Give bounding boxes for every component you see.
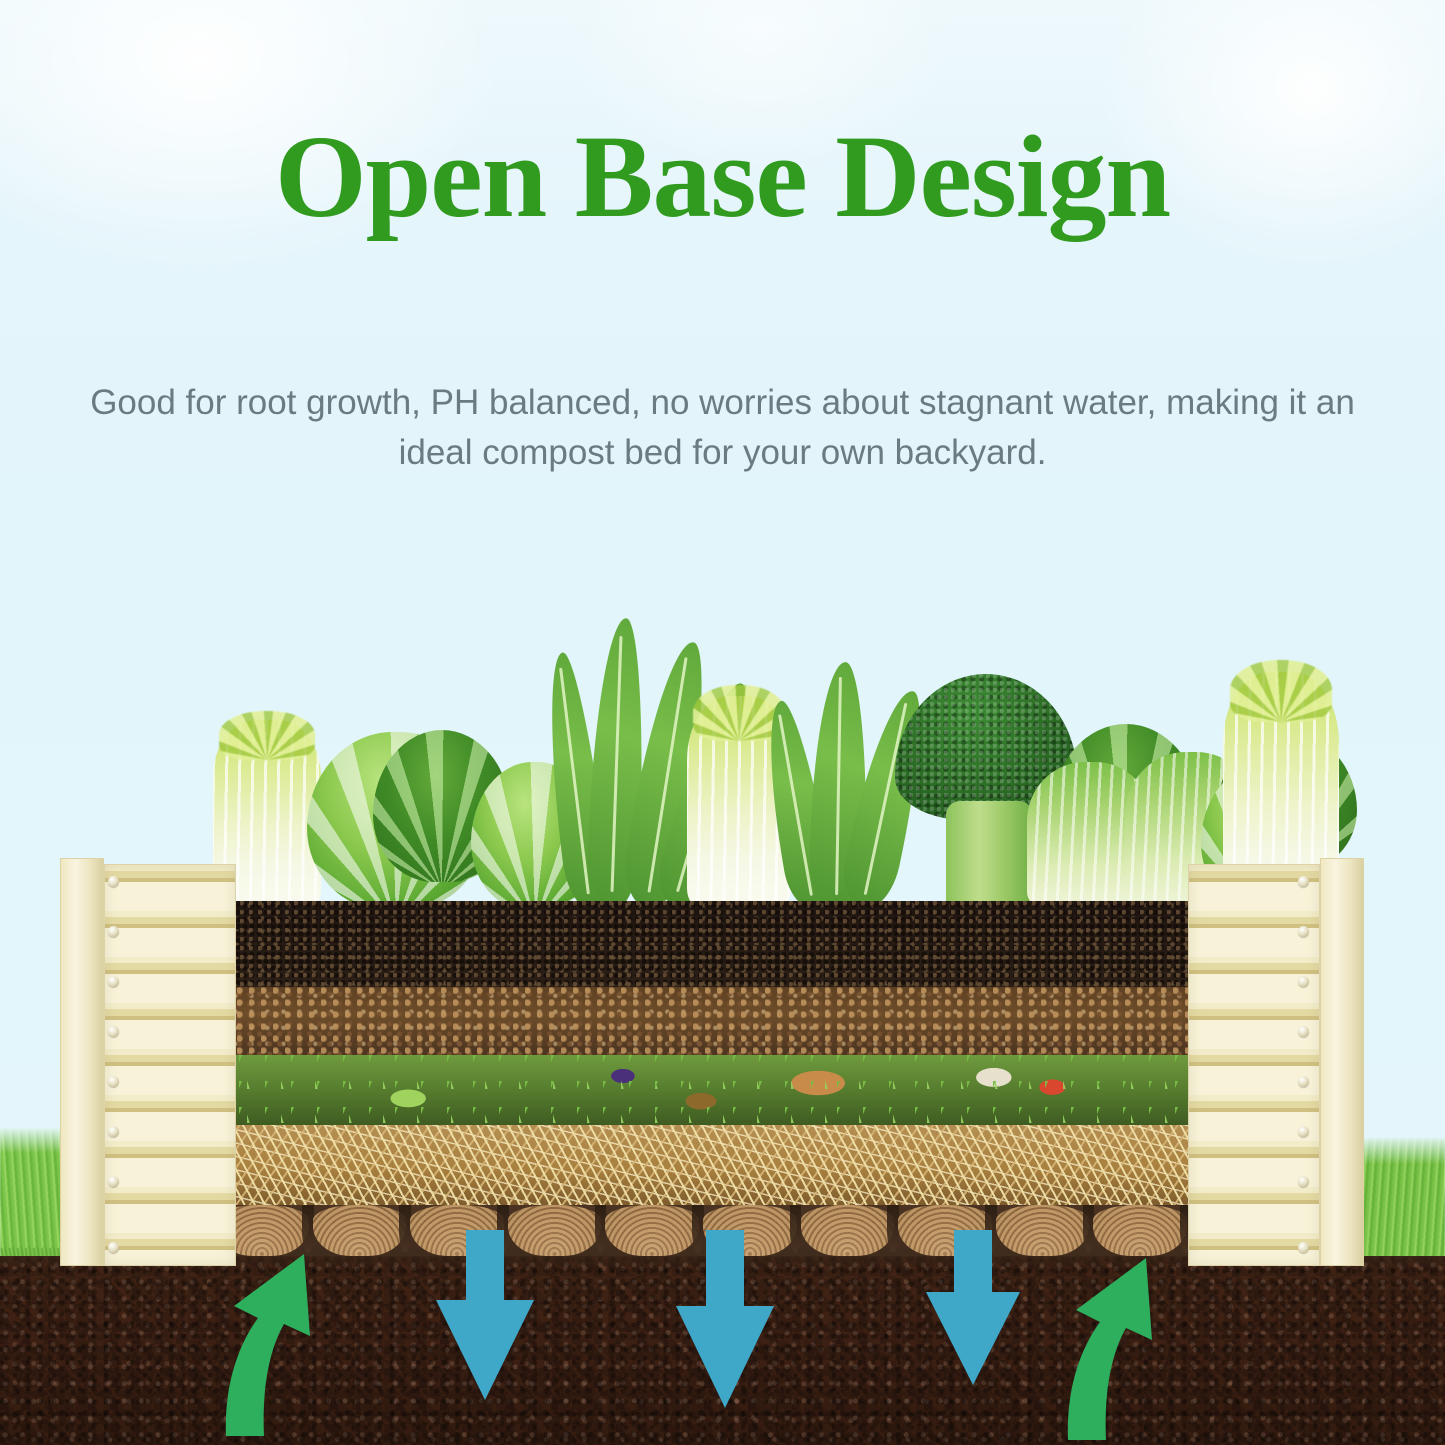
screw-icon [1298, 926, 1309, 937]
arrow-down-blue-2 [670, 1230, 780, 1412]
arrow-down-blue-3 [920, 1230, 1026, 1390]
layer-compost [213, 987, 1189, 1055]
left-side-panel [60, 864, 236, 1266]
panel-screws-right [1298, 864, 1316, 1266]
layer-kitchen-scraps [213, 1055, 1189, 1125]
flow-arrows [0, 1230, 1445, 1445]
screw-icon [108, 1126, 119, 1137]
screw-icon [1298, 1026, 1309, 1037]
layer-topsoil [213, 901, 1189, 987]
screw-icon [1298, 1076, 1309, 1087]
page-subtitle: Good for root growth, PH balanced, no wo… [50, 378, 1395, 477]
panel-screws-left [108, 864, 126, 1266]
screw-icon [1298, 976, 1309, 987]
screw-icon [1298, 876, 1309, 887]
screw-icon [108, 926, 119, 937]
screw-icon [108, 876, 119, 887]
screw-icon [108, 1176, 119, 1187]
screw-icon [108, 1026, 119, 1037]
product-feature-graphic: Open Base Design Good for root growth, P… [0, 0, 1445, 1445]
screw-icon [108, 1076, 119, 1087]
page-title: Open Base Design [0, 118, 1445, 236]
broccoli-stalk [946, 801, 1033, 910]
bed-cross-section [213, 901, 1189, 1266]
right-side-panel [1188, 864, 1364, 1266]
screw-icon [1298, 1176, 1309, 1187]
corner-post-right [1320, 858, 1364, 1266]
arrow-up-green-left [218, 1240, 368, 1440]
corner-post-left [60, 858, 104, 1266]
screw-icon [1298, 1126, 1309, 1137]
arrow-down-blue-1 [430, 1230, 540, 1405]
screw-icon [108, 976, 119, 987]
arrow-up-green-right [1060, 1244, 1210, 1444]
layer-straw-mulch [213, 1125, 1189, 1205]
